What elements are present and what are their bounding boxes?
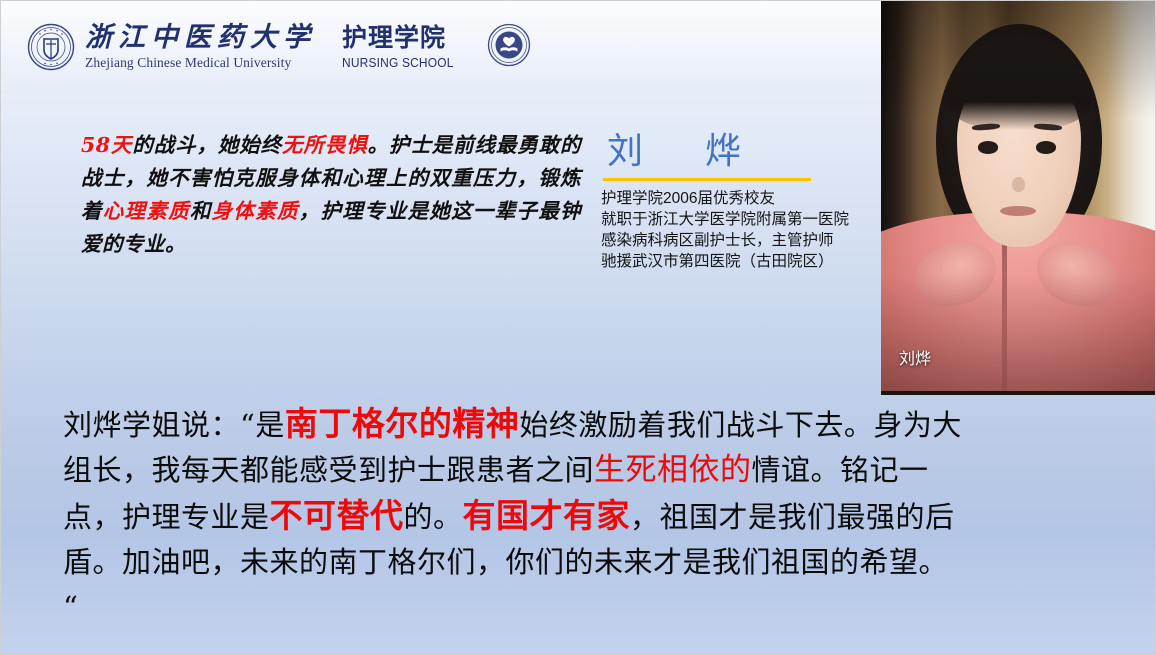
profile-panel: 刘 烨 护理学院2006届优秀校友 就职于浙江大学医学院附属第一医院 感染病科病…: [601, 129, 873, 272]
portrait-photo: 刘烨: [881, 1, 1156, 395]
intro-highlight-physical: 身体素质: [212, 199, 299, 223]
nursing-school-seal-icon: [487, 23, 535, 71]
slide-canvas: 浙江中医药大学 Zhejiang Chinese Medical Univers…: [0, 0, 1156, 655]
intro-highlight-days: 58天: [81, 133, 132, 157]
intro-text-1: 的战斗，她始终: [132, 133, 282, 157]
quote-highlight-country-home: 有国才有家: [463, 496, 631, 535]
photo-scene: [881, 1, 1156, 391]
quote-highlight-nightingale-spirit: 南丁格尔的精神: [285, 404, 520, 443]
credential-line: 驰援武汉市第四医院（古田院区）: [601, 251, 873, 272]
intro-highlight-fearless: 无所畏惧: [282, 133, 368, 157]
credential-line: 就职于浙江大学医学院附属第一医院: [601, 209, 873, 230]
university-name-cn: 浙江中医药大学: [85, 24, 316, 51]
credential-line: 感染病科病区副护士长，主管护师: [601, 230, 873, 251]
quote-text-1: 刘烨学姐说：“是: [63, 408, 285, 442]
photo-caption: 刘烨: [899, 345, 931, 369]
credentials-list: 护理学院2006届优秀校友 就职于浙江大学医学院附属第一医院 感染病科病区副护士…: [601, 188, 873, 272]
quote-highlight-irreplaceable: 不可替代: [270, 496, 404, 535]
intro-text-3: 和: [190, 199, 212, 223]
quote-block: 刘烨学姐说：“是南丁格尔的精神始终激励着我们战斗下去。身为大组长，我每天都能感受…: [63, 401, 963, 630]
photo-vignette: [881, 1, 1156, 391]
school-name-cn: 护理学院: [342, 26, 463, 51]
person-name: 刘 烨: [601, 129, 873, 173]
credential-line: 护理学院2006届优秀校友: [601, 188, 873, 209]
school-name-en: NURSING SCHOOL: [342, 56, 454, 69]
quote-text-4: 的。: [404, 500, 463, 534]
quote-highlight-life-and-death: 生死相依的: [594, 452, 752, 488]
university-name-group: 浙江中医药大学 Zhejiang Chinese Medical Univers…: [85, 24, 316, 70]
school-name-group: 护理学院 NURSING SCHOOL: [342, 26, 463, 69]
university-branding: 浙江中医药大学 Zhejiang Chinese Medical Univers…: [27, 23, 535, 71]
intro-highlight-mental: 心理素质: [103, 199, 190, 223]
name-underline-rule: [603, 178, 811, 181]
university-name-en: Zhejiang Chinese Medical University: [85, 56, 316, 70]
university-seal-icon: [27, 23, 75, 71]
intro-paragraph: 58天的战斗，她始终无所畏惧。护士是前线最勇敢的战士，她不害怕克服身体和心理上的…: [81, 129, 581, 261]
